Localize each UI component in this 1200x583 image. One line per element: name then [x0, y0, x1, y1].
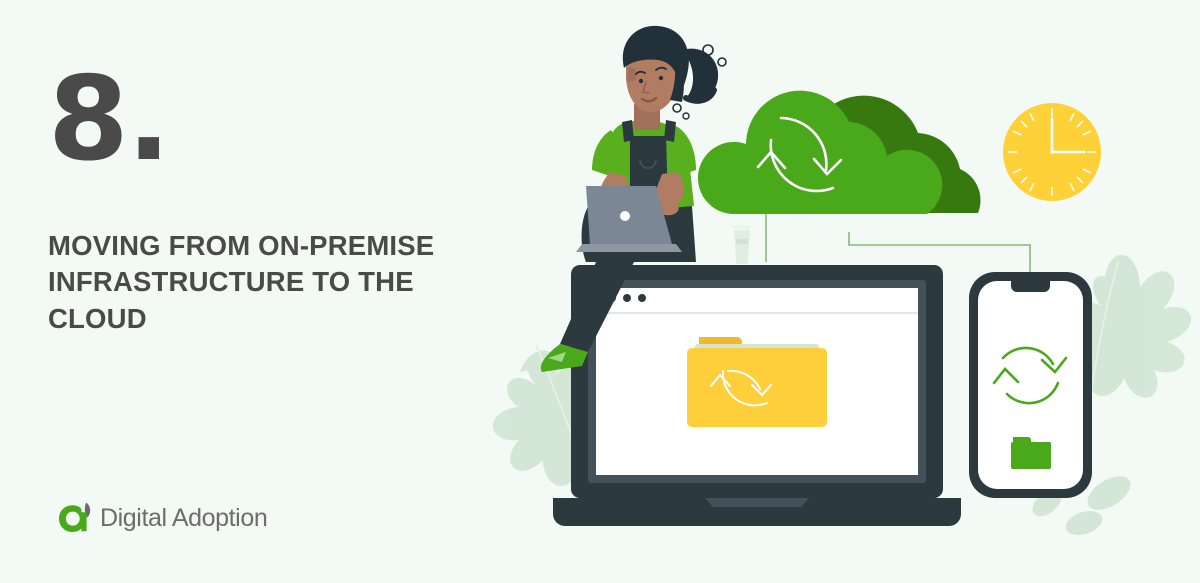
smartphone-with-sync-and-folder	[969, 272, 1092, 498]
page-title: MOVING FROM ON-PREMISE INFRASTRUCTURE TO…	[48, 228, 468, 337]
cloud-migration-illustration	[470, 0, 1200, 583]
yellow-folder-sync-icon	[687, 337, 827, 427]
slide-canvas: 8. MOVING FROM ON-PREMISE INFRASTRUCTURE…	[0, 0, 1200, 583]
logo-wordmark: Digital Adoption	[100, 504, 267, 533]
coffee-cup	[733, 225, 751, 264]
text-column: 8. MOVING FROM ON-PREMISE INFRASTRUCTURE…	[48, 62, 488, 337]
laptop-with-browser-window	[553, 265, 961, 526]
slide-number: 8.	[48, 62, 488, 186]
brand-logo[interactable]: Digital Adoption	[56, 498, 267, 538]
green-cloud-with-sync-arrows	[698, 91, 981, 214]
yellow-clock-three-oclock	[1003, 103, 1101, 201]
connector-lines	[766, 213, 1030, 272]
logo-mark-icon	[56, 498, 96, 538]
